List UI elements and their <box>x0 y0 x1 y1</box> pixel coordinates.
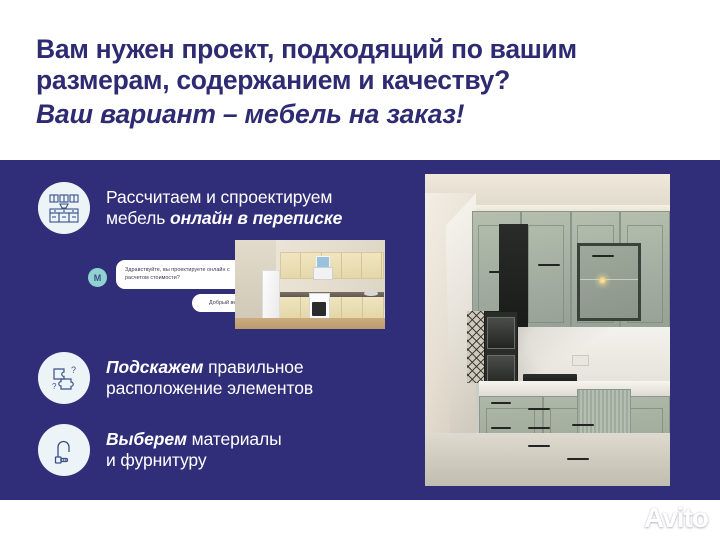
feature-1-line-1: Рассчитаем и спроектируем <box>106 187 332 207</box>
avito-watermark: Avito <box>615 504 708 532</box>
headline-line-1: Вам нужен проект, подходящий по вашим <box>36 34 696 65</box>
render-fridge <box>262 270 280 320</box>
puzzle-question-icon: ? ? <box>38 352 90 404</box>
kitchen-3d-render-inset <box>235 240 385 329</box>
kitchen-cabinets-icon <box>38 182 90 234</box>
render-sink <box>364 291 378 296</box>
photo-handle <box>491 402 511 404</box>
photo-handle <box>528 427 550 429</box>
feature-3-line-2: и фурнитуру <box>106 450 207 470</box>
feature-3-line-1-regular: материалы <box>187 429 282 449</box>
photo-power-socket <box>572 355 589 366</box>
render-range-hood <box>313 267 333 280</box>
photo-handle <box>592 255 614 257</box>
svg-text:?: ? <box>71 365 76 375</box>
photo-light-bulb <box>599 277 606 284</box>
feature-3-line-1-accent: Выберем <box>106 429 187 449</box>
render-oven <box>309 293 330 320</box>
feature-2-text: Подскажем правильное расположение элемен… <box>106 357 313 400</box>
photo-handle <box>572 424 594 426</box>
feature-2-line-2: расположение элементов <box>106 378 313 398</box>
feature-3-text: Выберем материалы и фурнитуру <box>106 429 282 472</box>
avito-watermark-text: Avito <box>644 504 708 532</box>
photo-handle <box>489 271 509 273</box>
photo-built-in-ovens <box>484 311 518 392</box>
feature-item-layout-advice: ? ? Подскажем правильное расположение эл… <box>38 352 408 404</box>
feature-2-line-1-accent: Подскажем <box>106 357 203 377</box>
chat-bubble-incoming: Здравствуйте, вы проектируете онлайн с р… <box>116 260 250 289</box>
avatar: M <box>88 268 107 287</box>
feature-1-line-2-accent: онлайн в переписке <box>170 208 342 228</box>
avito-logo-icon <box>615 505 641 531</box>
photo-handle <box>528 408 550 410</box>
headline-block: Вам нужен проект, подходящий по вашим ра… <box>36 34 696 131</box>
headline-accent: Ваш вариант – мебель на заказ! <box>36 96 696 131</box>
feature-1-text: Рассчитаем и спроектируем мебель онлайн … <box>106 187 342 230</box>
photo-handle <box>567 458 589 460</box>
photo-floor <box>425 433 670 486</box>
render-floor <box>235 318 385 329</box>
feature-1-line-2-regular: мебель <box>106 208 170 228</box>
photo-handle <box>491 427 511 429</box>
render-lower-cabinets <box>280 297 384 319</box>
svg-text:?: ? <box>52 382 57 391</box>
kitchen-photo <box>425 174 670 486</box>
feature-item-materials: Выберем материалы и фурнитуру <box>38 424 408 476</box>
advertisement-banner: Вам нужен проект, подходящий по вашим ра… <box>0 0 720 540</box>
headline-line-2: размерам, содержанием и качеству? <box>36 65 696 96</box>
feature-2-line-1-regular: правильное <box>203 357 303 377</box>
faucet-icon <box>38 424 90 476</box>
feature-item-online-design: Рассчитаем и спроектируем мебель онлайн … <box>38 182 408 234</box>
